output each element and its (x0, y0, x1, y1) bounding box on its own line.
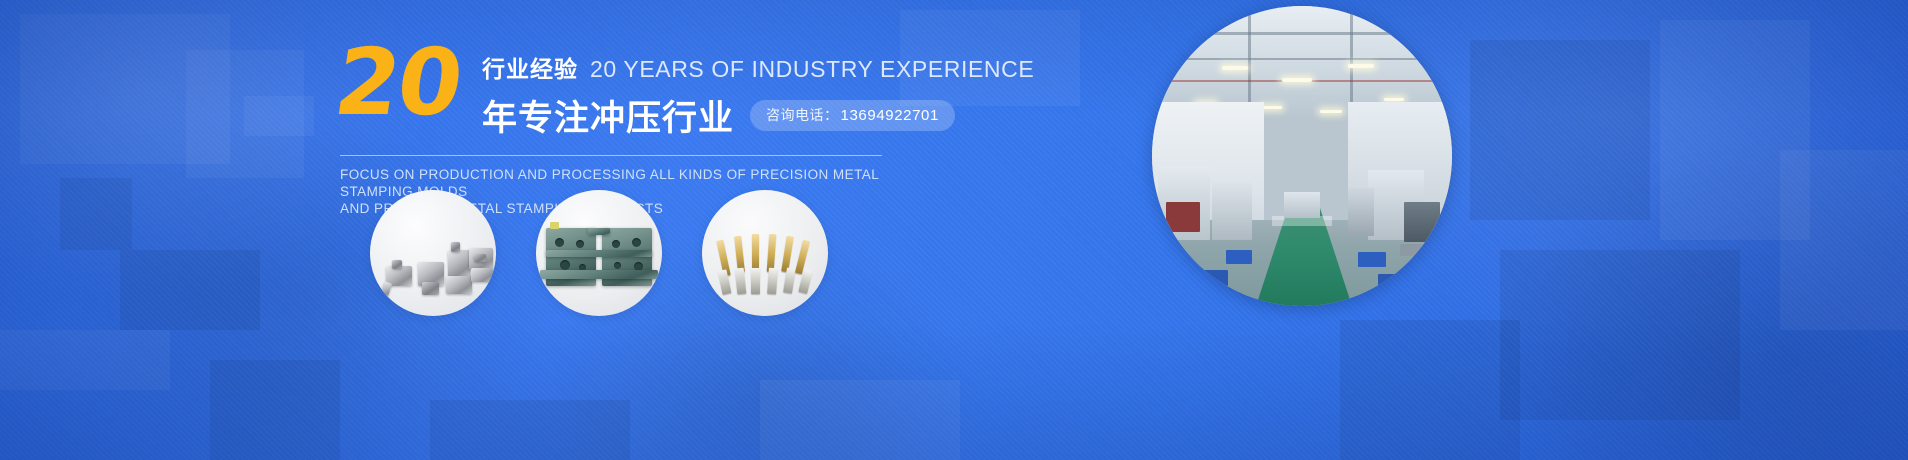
phone-badge[interactable]: 咨询电话： 13694922701 (750, 100, 955, 131)
headline-text-group: 行业经验 20 YEARS OF INDUSTRY EXPERIENCE 年专注… (482, 40, 1034, 141)
headline-cn-big: 年专注冲压行业 (482, 90, 734, 141)
headline-row: 20 行业经验 20 YEARS OF INDUSTRY EXPERIENCE … (336, 40, 896, 141)
years-number: 20 (331, 44, 466, 122)
headline-line-2: 年专注冲压行业 咨询电话： 13694922701 (482, 90, 1034, 141)
product-circle-mold[interactable] (536, 190, 662, 316)
phone-badge-number: 13694922701 (841, 107, 939, 124)
promo-banner: 20 行业经验 20 YEARS OF INDUSTRY EXPERIENCE … (0, 0, 1908, 460)
product-circle-terminals[interactable] (702, 190, 828, 316)
phone-badge-label: 咨询电话： (766, 105, 839, 125)
headline-cn-small: 行业经验 (482, 50, 578, 84)
product-circle-connectors[interactable] (370, 190, 496, 316)
headline-en-small: 20 YEARS OF INDUSTRY EXPERIENCE (590, 56, 1034, 83)
headline-line-1: 行业经验 20 YEARS OF INDUSTRY EXPERIENCE (482, 50, 1034, 84)
factory-photo-circle[interactable] (1152, 6, 1452, 306)
headline-divider (340, 155, 882, 156)
